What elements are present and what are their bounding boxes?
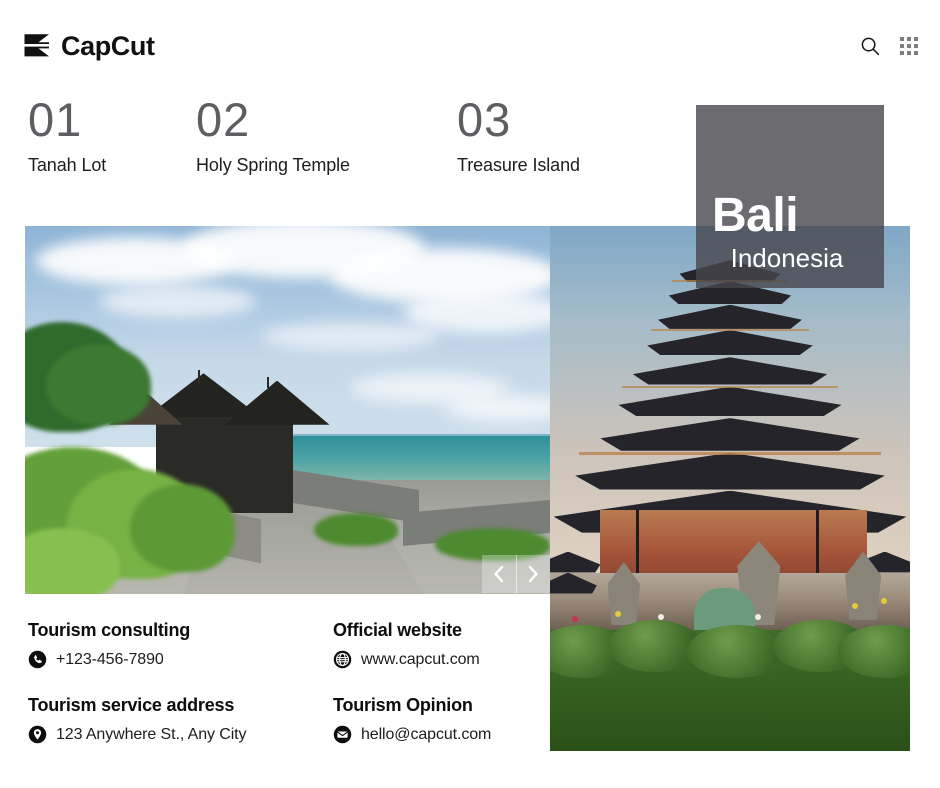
contact-row[interactable]: 123 Anywhere St., Any City [28,725,333,744]
location-pin-icon [28,725,47,744]
contact-title: Official website [333,620,548,641]
phone-icon [28,650,47,669]
cloud-shape [261,322,440,351]
contact-row[interactable]: +123-456-7890 [28,650,333,669]
capcut-hourglass-logo-icon [22,31,52,61]
shrub [130,484,235,572]
contact-block-opinion: Tourism Opinion hello@capcut.com [333,695,548,744]
contact-title: Tourism Opinion [333,695,548,716]
search-icon[interactable] [860,36,880,56]
flower [755,614,761,620]
temple-finial [198,370,200,385]
destination-label: Tanah Lot [28,155,106,176]
contact-value: www.capcut.com [361,651,480,669]
destination-label: Holy Spring Temple [196,155,350,176]
apps-grid-icon[interactable] [900,37,918,55]
gallery-carousel-nav [482,555,550,593]
app-header: CapCut [0,0,940,92]
destination-item[interactable]: 03 Treasure Island [457,96,580,176]
contact-title: Tourism service address [28,695,333,716]
gallery-photo-left[interactable] [25,226,550,594]
shrub [314,513,398,546]
gallery-photo-right[interactable] [550,226,910,751]
header-actions [860,36,918,56]
cloud-shape [99,285,257,318]
contact-section: Tourism consulting +123-456-7890 Officia… [28,620,548,744]
contact-value: 123 Anywhere St., Any City [56,726,246,744]
contact-block-consulting: Tourism consulting +123-456-7890 [28,620,333,669]
destination-item[interactable]: 01 Tanah Lot [28,96,106,176]
contact-block-address: Tourism service address 123 Anywhere St.… [28,695,333,744]
pagoda-column [636,510,639,578]
destination-label: Treasure Island [457,155,580,176]
contact-value: hello@capcut.com [361,726,491,744]
contact-block-website: Official website www.capcut.com [333,620,548,669]
hedge-bump [687,625,788,678]
hero-location-card: Bali Indonesia [696,105,884,288]
hero-card-subtitle: Indonesia [696,244,884,274]
destination-number: 03 [457,96,580,143]
hero-card-title: Bali [696,192,884,240]
contact-title: Tourism consulting [28,620,333,641]
destination-number: 01 [28,96,106,143]
tier-trim [579,452,881,455]
flower [615,611,621,617]
cloud-shape [403,292,550,332]
chevron-left-icon [493,565,504,583]
brand-logo[interactable]: CapCut [22,31,155,61]
globe-icon [333,650,352,669]
envelope-icon [333,725,352,744]
contact-row[interactable]: hello@capcut.com [333,725,548,744]
tree-foliage [46,344,151,425]
gallery-next-button[interactable] [516,555,551,593]
temple-finial [267,377,269,388]
destination-number: 02 [196,96,350,143]
destination-item[interactable]: 02 Holy Spring Temple [196,96,350,176]
brand-name: CapCut [61,33,155,60]
pagoda-column [816,510,819,578]
chevron-right-icon [528,565,539,583]
contact-row[interactable]: www.capcut.com [333,650,548,669]
page-root: CapCut 01 Tanah Lot 02 Holy Spring Templ… [0,0,940,788]
contact-value: +123-456-7890 [56,651,164,669]
gallery-prev-button[interactable] [482,555,516,593]
flower [658,614,664,620]
pagoda-body [600,510,866,578]
tier-trim [622,386,838,388]
tier-trim [651,329,809,331]
flower [572,616,578,622]
